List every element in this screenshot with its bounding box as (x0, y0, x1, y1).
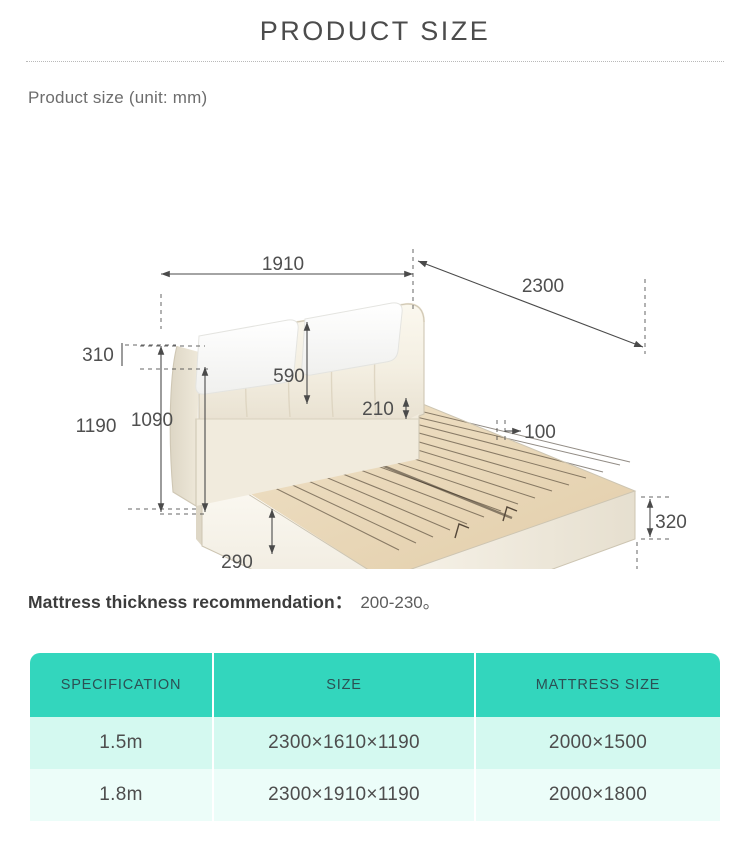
mattress-recommendation-label: Mattress thickness recommendation： (28, 589, 352, 614)
cell-mattress-size: 2000×1800 (476, 769, 720, 821)
dim-label-290: 290 (221, 552, 253, 569)
diagram-subtitle: Product size (unit: mm) (0, 62, 750, 108)
specification-table: SPECIFICATION SIZE MATTRESS SIZE 1.5m 23… (30, 653, 720, 821)
dim-label-1190: 1190 (76, 416, 117, 437)
dim-label-590: 590 (273, 366, 305, 387)
cell-specification: 1.8m (30, 769, 214, 821)
dim-label-1090: 1090 (131, 410, 173, 431)
table-header-row: SPECIFICATION SIZE MATTRESS SIZE (30, 653, 720, 717)
table-header-specification: SPECIFICATION (30, 653, 214, 717)
bed-diagram-svg: 1910 2300 310 590 210 1190 1090 100 320 … (0, 114, 750, 569)
table-row: 1.8m 2300×1910×1190 2000×1800 (30, 769, 720, 821)
cell-specification: 1.5m (30, 717, 214, 769)
cell-size: 2300×1910×1190 (214, 769, 476, 821)
dim-label-320: 320 (655, 512, 687, 533)
table-header-mattress-size: MATTRESS SIZE (476, 653, 720, 717)
cell-size: 2300×1610×1190 (214, 717, 476, 769)
dim-label-1910: 1910 (262, 254, 304, 275)
mattress-recommendation-value: 200-230。 (360, 588, 439, 613)
dim-line-2300 (418, 261, 643, 347)
dim-label-2300: 2300 (522, 276, 564, 297)
product-dimension-diagram: 1910 2300 310 590 210 1190 1090 100 320 … (0, 114, 750, 569)
bed-illustration (170, 303, 635, 569)
cell-mattress-size: 2000×1500 (476, 717, 720, 769)
page-title: PRODUCT SIZE (0, 0, 750, 61)
dim-label-310: 310 (82, 345, 114, 366)
mattress-recommendation: Mattress thickness recommendation： 200-2… (28, 588, 440, 614)
dim-label-210: 210 (362, 399, 394, 420)
dim-label-100: 100 (524, 422, 556, 443)
table-header-size: SIZE (214, 653, 476, 717)
table-row: 1.5m 2300×1610×1190 2000×1500 (30, 717, 720, 769)
